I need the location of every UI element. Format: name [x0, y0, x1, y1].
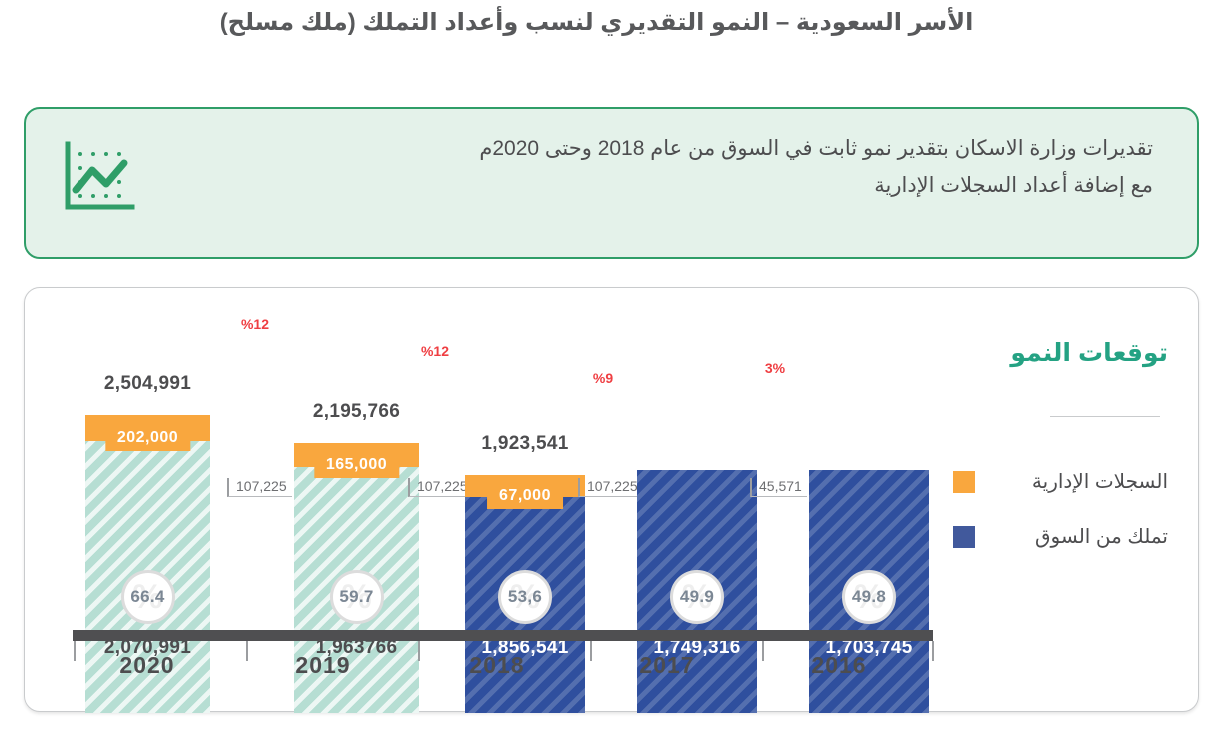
- pct-badge-2019: % 59.7: [330, 570, 384, 624]
- chart-plot-area: 2,504,991 202,000 % 66.4 2,070,991 %12 1…: [45, 288, 945, 713]
- legend-swatch-admin-icon: [953, 471, 975, 493]
- axis-tick: [762, 641, 764, 661]
- pct-badge-2016: % 49.8: [842, 570, 896, 624]
- pct-value-2019: 59.7: [339, 587, 373, 607]
- callout-box: تقديرات وزارة الاسكان بتقدير نمو ثابت في…: [24, 107, 1199, 259]
- x-axis-label-2017: 2017: [607, 652, 727, 679]
- x-axis-label-2020: 2020: [87, 652, 207, 679]
- legend-label-market: تملك من السوق: [993, 524, 1168, 549]
- pct-value-2016: 49.8: [852, 587, 886, 607]
- pct-badge-2018: % 53,6: [498, 570, 552, 624]
- legend-item-market-ownership[interactable]: تملك من السوق: [953, 524, 1168, 549]
- infographic-page: الأسر السعودية – النمو التقديري لنسب وأع…: [0, 0, 1223, 740]
- pct-badge-2020: % 66.4: [121, 570, 175, 624]
- bar-total-2019: 2,195,766: [313, 401, 400, 423]
- connector-value-2020-2019: 107,225: [227, 478, 292, 497]
- legend-title: توقعات النمو: [953, 338, 1168, 368]
- legend-label-admin: السجلات الإدارية: [993, 469, 1168, 494]
- x-axis-label-2019: 2019: [263, 652, 383, 679]
- connector-value-2017-2016: 45,571: [750, 478, 807, 497]
- axis-tick: [74, 641, 76, 661]
- pct-value-2018: 53,6: [508, 587, 542, 607]
- pct-value-2020: 66.4: [130, 587, 164, 607]
- growth-label-2019-2018: %12: [405, 343, 465, 359]
- connector-value-2018-2017: 107,225: [578, 478, 643, 497]
- connector-value-2019-2018: 107,225: [408, 478, 473, 497]
- axis-tick: [246, 641, 248, 661]
- axis-tick: [418, 641, 420, 661]
- connector-2017-2016: 45,571: [750, 478, 807, 497]
- connector-2018-2017: 107,225: [578, 478, 643, 497]
- connector-2019-2018: 107,225: [408, 478, 473, 497]
- axis-tick: [590, 641, 592, 661]
- page-title: الأسر السعودية – النمو التقديري لنسب وأع…: [0, 8, 1223, 37]
- chart-card: 2,504,991 202,000 % 66.4 2,070,991 %12 1…: [24, 287, 1199, 712]
- bar-admin-label-2018: 67,000: [487, 484, 563, 509]
- chart-legend: توقعات النمو السجلات الإدارية تملك من ال…: [953, 338, 1168, 579]
- callout-text: تقديرات وزارة الاسكان بتقدير نمو ثابت في…: [142, 131, 1167, 205]
- growth-label-2017-2016: 3%: [745, 360, 805, 376]
- connector-2020-2019: 107,225: [227, 478, 292, 497]
- pct-value-2017: 49.9: [680, 587, 714, 607]
- callout-line-2: مع إضافة أعداد السجلات الإدارية: [142, 168, 1153, 205]
- pct-badge-2017: % 49.9: [670, 570, 724, 624]
- x-axis-label-2016: 2016: [779, 652, 899, 679]
- bar-admin-label-2020: 202,000: [105, 426, 190, 451]
- bar-total-2020: 2,504,991: [104, 373, 191, 395]
- line-chart-icon: [56, 135, 142, 221]
- bar-admin-label-2019: 165,000: [314, 453, 399, 478]
- bar-total-2018: 1,923,541: [481, 433, 568, 455]
- growth-label-2018-2017: %9: [573, 370, 633, 386]
- axis-tick: [932, 641, 934, 661]
- x-axis-label-2018: 2018: [437, 652, 557, 679]
- x-axis-baseline: [73, 630, 933, 641]
- legend-item-admin-records[interactable]: السجلات الإدارية: [953, 469, 1168, 494]
- callout-line-1: تقديرات وزارة الاسكان بتقدير نمو ثابت في…: [142, 131, 1153, 168]
- growth-label-2020-2019: %12: [225, 316, 285, 332]
- legend-divider: [1050, 416, 1160, 417]
- legend-swatch-market-icon: [953, 526, 975, 548]
